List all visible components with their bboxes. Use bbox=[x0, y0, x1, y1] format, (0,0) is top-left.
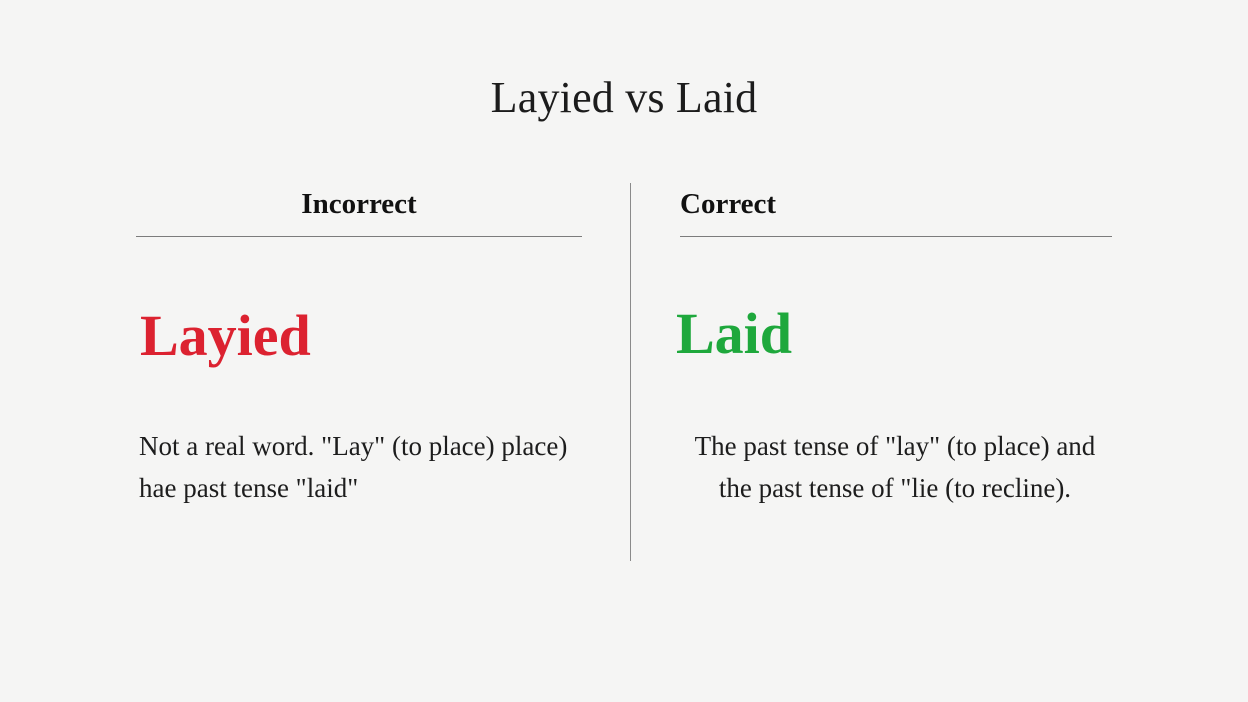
description-incorrect: Not a real word. "Lay" (to place) place)… bbox=[139, 426, 609, 510]
vertical-divider bbox=[630, 183, 631, 561]
comparison-slide: Layied vs Laid Incorrect Layied Not a re… bbox=[0, 0, 1248, 702]
column-correct: Correct Laid The past tense of "lay" (to… bbox=[680, 186, 1112, 237]
column-rule-correct bbox=[680, 236, 1112, 237]
term-incorrect: Layied bbox=[140, 306, 311, 367]
description-correct: The past tense of "lay" (to place) and t… bbox=[680, 426, 1110, 510]
column-heading-correct: Correct bbox=[680, 186, 1112, 236]
column-incorrect: Incorrect Layied Not a real word. "Lay" … bbox=[136, 186, 582, 237]
column-rule-incorrect bbox=[136, 236, 582, 237]
term-correct: Laid bbox=[676, 304, 792, 365]
page-title: Layied vs Laid bbox=[0, 74, 1248, 122]
column-heading-incorrect: Incorrect bbox=[136, 186, 582, 236]
